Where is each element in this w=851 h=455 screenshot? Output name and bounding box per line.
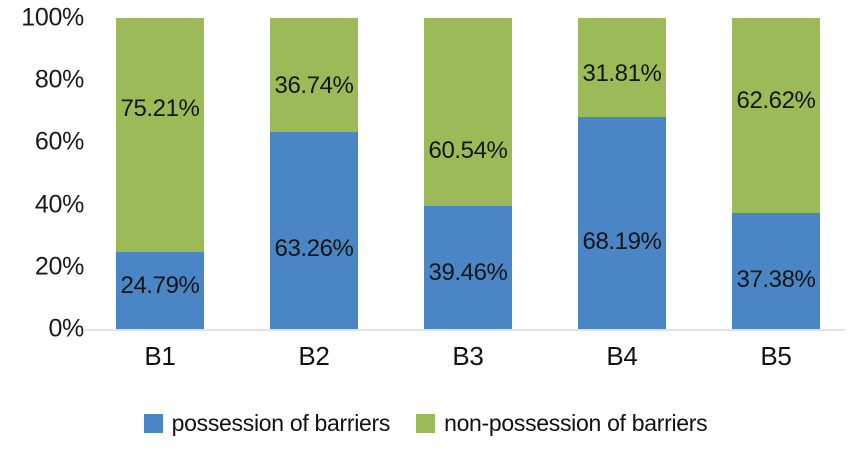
bar-segment-non-possession-b3[interactable] [424, 18, 512, 206]
bar-label-possession-b5: 37.38% [732, 268, 820, 292]
x-axis-tick-label-b2: B2 [270, 342, 358, 371]
y-axis-tick-label: 20% [0, 254, 84, 279]
bar-label-non-possession-b4: 31.81% [578, 62, 666, 86]
legend-label: possession of barriers [172, 412, 390, 435]
bar-label-possession-b3: 39.46% [424, 261, 512, 285]
bar-label-possession-b4: 68.19% [578, 230, 666, 254]
bar-label-non-possession-b3: 60.54% [424, 139, 512, 163]
bar-group-b1[interactable]: 24.79%75.21% [116, 18, 204, 329]
x-axis-tick-label-b5: B5 [732, 342, 820, 371]
x-axis-baseline [84, 329, 845, 331]
bar-group-b5[interactable]: 37.38%62.62% [732, 18, 820, 329]
legend-swatch-non-possession [416, 414, 435, 433]
bar-segment-possession-b2[interactable] [270, 132, 358, 329]
bar-label-non-possession-b2: 36.74% [270, 74, 358, 98]
bar-segment-possession-b4[interactable] [578, 117, 666, 329]
y-axis-tick-label: 40% [0, 192, 84, 217]
y-axis: 0%20%40%60%80%100% [0, 18, 84, 329]
bar-segment-non-possession-b1[interactable] [116, 18, 204, 252]
bar-group-b2[interactable]: 63.26%36.74% [270, 18, 358, 329]
legend-label: non-possession of barriers [444, 412, 707, 435]
plot-area: 24.79%75.21%63.26%36.74%39.46%60.54%68.1… [90, 18, 845, 329]
y-axis-tick-label: 60% [0, 130, 84, 155]
legend-item-non-possession[interactable]: non-possession of barriers [416, 412, 707, 435]
y-axis-tick-label: 100% [0, 6, 84, 31]
bar-label-possession-b1: 24.79% [116, 274, 204, 298]
bar-label-possession-b2: 63.26% [270, 237, 358, 261]
x-axis-tick-label-b1: B1 [116, 342, 204, 371]
legend-swatch-possession [144, 414, 163, 433]
chart-legend: possession of barriersnon-possession of … [0, 412, 851, 435]
bar-label-non-possession-b5: 62.62% [732, 89, 820, 113]
x-axis: B1B2B3B4B5 [90, 342, 845, 382]
legend-item-possession[interactable]: possession of barriers [144, 412, 390, 435]
bar-label-non-possession-b1: 75.21% [116, 97, 204, 121]
y-axis-tick-label: 0% [0, 317, 84, 342]
x-axis-tick-label-b4: B4 [578, 342, 666, 371]
x-axis-tick-label-b3: B3 [424, 342, 512, 371]
bar-segment-non-possession-b5[interactable] [732, 18, 820, 213]
bar-group-b3[interactable]: 39.46%60.54% [424, 18, 512, 329]
bar-group-b4[interactable]: 68.19%31.81% [578, 18, 666, 329]
y-axis-tick-label: 80% [0, 68, 84, 93]
stacked-bar-chart: 0%20%40%60%80%100% 24.79%75.21%63.26%36.… [0, 0, 851, 455]
